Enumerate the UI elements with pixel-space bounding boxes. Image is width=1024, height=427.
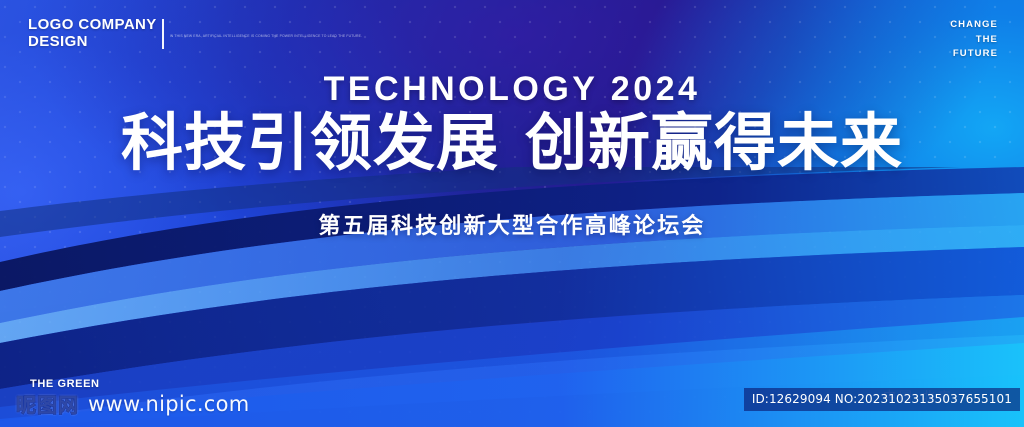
nipic-logo: 昵图网 <box>16 389 79 418</box>
logo-divider <box>162 19 164 49</box>
nipic-url: www.nipic.com <box>88 392 250 416</box>
headline: 科技引领发展创新赢得未来 <box>0 111 1024 176</box>
logo-tagline: IN THIS NEW ERA, ARTIFICIAL INTELLIGENCE… <box>170 34 262 39</box>
site-watermark: 昵图网 www.nipic.com <box>16 389 250 418</box>
eyebrow-title: TECHNOLOGY 2024 <box>0 70 1024 109</box>
corner-slogan-line-3: FUTURE <box>950 47 998 62</box>
subheadline: 第五届科技创新大型合作高峰论坛会 <box>0 208 1024 240</box>
asset-id-strip: ID:12629094 NO:20231023135037655101 <box>744 388 1020 411</box>
corner-slogan-line-1: CHANGE <box>950 18 998 33</box>
logo-line-2: DESIGN <box>28 34 157 51</box>
headline-left: 科技引领发展 <box>121 109 499 178</box>
corner-slogan: CHANGE THE FUTURE <box>950 18 998 62</box>
logo-line-1: LOGO COMPANY <box>28 17 157 34</box>
poster-canvas: LOGO COMPANY DESIGN IN THIS NEW ERA, ART… <box>0 0 1024 427</box>
logo-block: LOGO COMPANY DESIGN IN THIS NEW ERA, ART… <box>28 17 262 51</box>
headline-right: 创新赢得未来 <box>525 109 903 178</box>
corner-slogan-line-2: THE <box>950 33 998 48</box>
